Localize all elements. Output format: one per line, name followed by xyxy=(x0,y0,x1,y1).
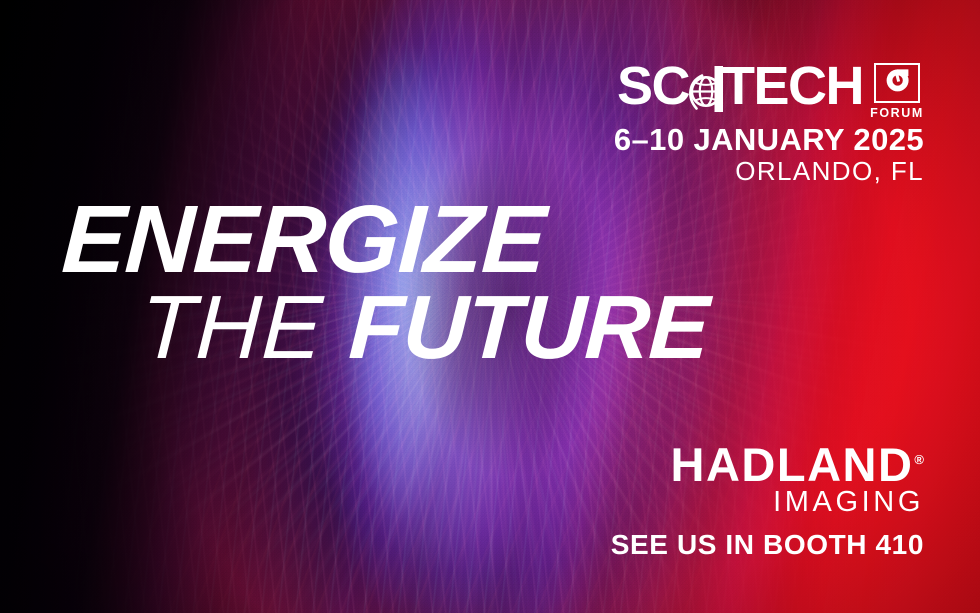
forum-icon-box xyxy=(874,63,920,103)
scitech-wordmark: SC xyxy=(617,62,863,112)
forum-label: FORUM xyxy=(870,107,924,120)
headline-future: FUTURE xyxy=(347,278,711,378)
forum-badge: FORUM xyxy=(870,63,924,120)
scitech-text-tech: TECH xyxy=(722,62,863,112)
hadland-wordmark: HADLAND® xyxy=(671,443,924,487)
headline-line-2: THEFUTURE xyxy=(138,286,710,372)
scitech-forum-banner: SC xyxy=(0,0,980,613)
globe-icon xyxy=(685,64,725,110)
aiaa-swirl-icon xyxy=(884,67,911,99)
hadland-subtitle: IMAGING xyxy=(611,488,924,517)
headline-the: THE xyxy=(138,278,326,378)
scitech-text-sc: SC xyxy=(617,62,689,112)
banner-content: SC xyxy=(0,0,980,613)
event-location: ORLANDO, FL xyxy=(614,158,924,185)
scitech-wordmark-row: SC xyxy=(614,62,924,120)
scitech-forum-lockup: SC xyxy=(614,62,924,185)
event-dates: 6–10 JANUARY 2025 xyxy=(614,124,924,157)
headline-line-1: ENERGIZE xyxy=(60,196,711,284)
hadland-name: HADLAND xyxy=(671,438,914,491)
booth-callout: SEE US IN BOOTH 410 xyxy=(611,529,924,561)
headline: ENERGIZE THEFUTURE xyxy=(60,196,706,372)
registered-trademark-mark: ® xyxy=(914,452,924,467)
hadland-imaging-lockup: HADLAND® IMAGING SEE US IN BOOTH 410 xyxy=(611,443,924,561)
